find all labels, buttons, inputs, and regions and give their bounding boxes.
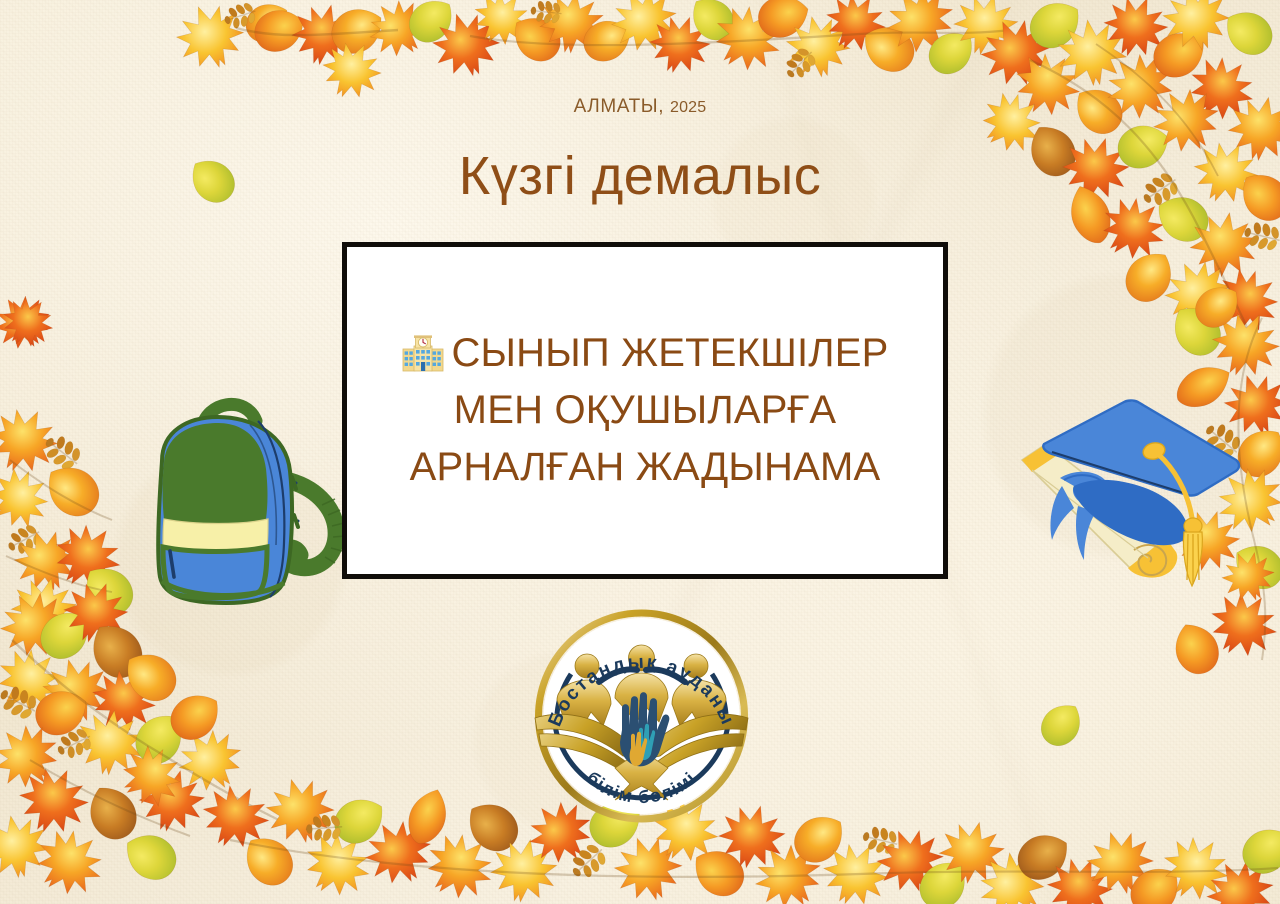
headline-callout-text: СЫНЫП ЖЕТЕКШІЛЕР МЕН ОҚУШЫЛАРҒА АРНАЛҒАН… [347,325,943,495]
city-year-label: АЛМАТЫ, 2025 [0,96,1280,118]
page-title: Күзгі демалыс [0,145,1280,207]
city-label: АЛМАТЫ, [574,96,664,117]
graduation-cap-illustration [1008,382,1258,607]
poster-canvas: АЛМАТЫ, 2025 Күзгі демалыс [0,0,1280,904]
headline-callout-box: СЫНЫП ЖЕТЕКШІЛЕР МЕН ОҚУШЫЛАРҒА АРНАЛҒАН… [342,242,948,579]
education-department-emblem: Бостандық ауданы білім бөлімі [519,608,764,823]
headline-line-1-text: СЫНЫП ЖЕТЕКШІЛЕР [451,331,888,375]
headline-line-2: МЕН ОҚУШЫЛАРҒА [363,382,927,439]
year-label: 2025 [670,99,706,116]
backpack-illustration [140,385,375,620]
headline-line-1: СЫНЫП ЖЕТЕКШІЛЕР [363,325,927,382]
headline-line-3: АРНАЛҒАН ЖАДЫНАМА [363,439,927,496]
school-building-icon [401,332,445,372]
